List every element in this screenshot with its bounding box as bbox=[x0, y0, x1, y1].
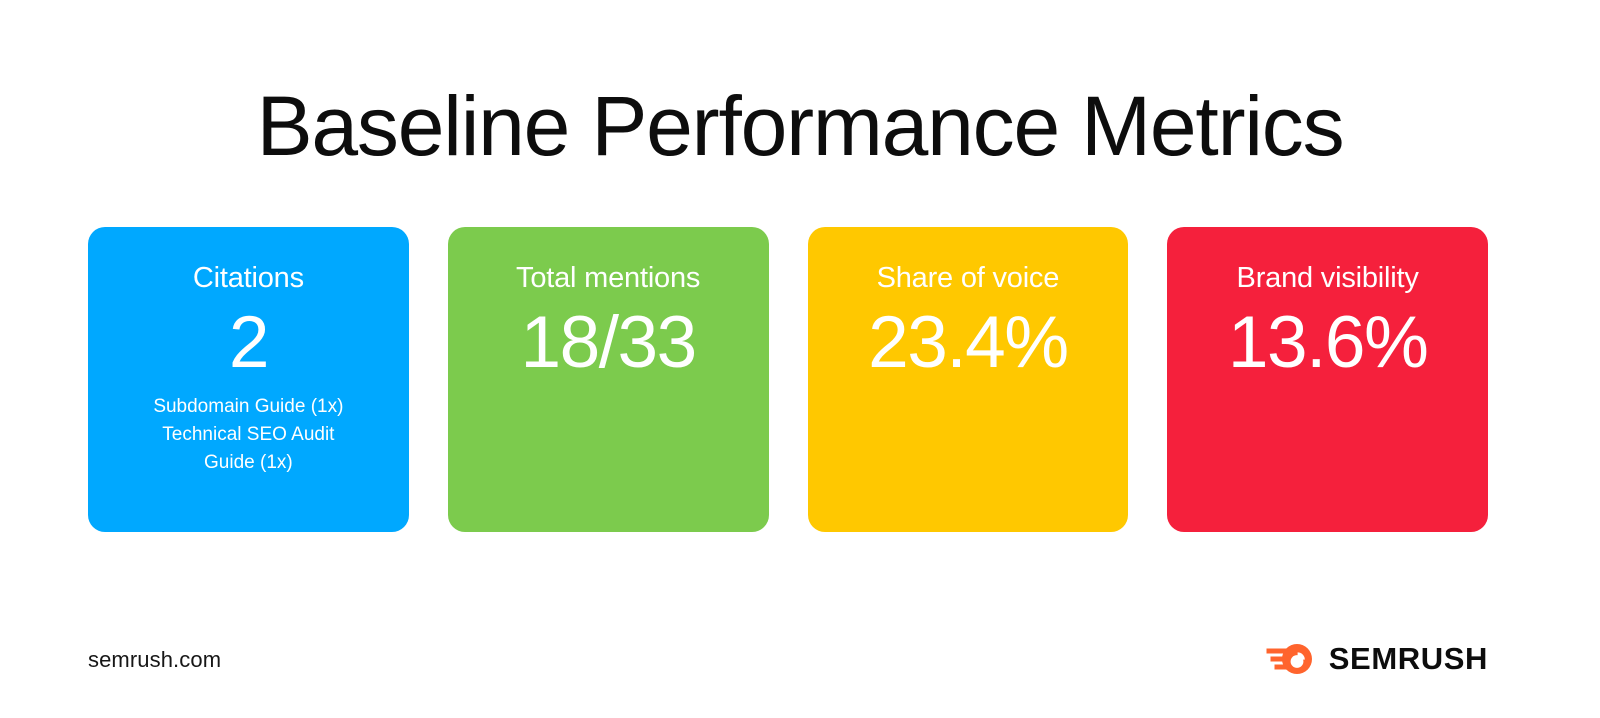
semrush-logo: SEMRUSH bbox=[1265, 640, 1488, 678]
metric-card-label: Share of voice bbox=[877, 261, 1060, 295]
footer-source-url: semrush.com bbox=[88, 645, 221, 675]
metric-card-label: Citations bbox=[193, 261, 304, 295]
infographic-canvas: Baseline Performance Metrics Citations 2… bbox=[0, 0, 1600, 718]
metric-card-value: 13.6% bbox=[1228, 301, 1428, 385]
semrush-wordmark: SEMRUSH bbox=[1329, 642, 1488, 676]
metric-card-row: Citations 2 Subdomain Guide (1x) Technic… bbox=[88, 227, 1488, 532]
metric-card-value: 2 bbox=[229, 301, 268, 385]
metric-card-total-mentions: Total mentions 18/33 bbox=[448, 227, 769, 532]
metric-card-value: 23.4% bbox=[868, 301, 1068, 385]
metric-card-label: Brand visibility bbox=[1237, 261, 1419, 295]
page-title: Baseline Performance Metrics bbox=[0, 78, 1600, 174]
metric-card-label: Total mentions bbox=[516, 261, 700, 295]
metric-card-brand-visibility: Brand visibility 13.6% bbox=[1167, 227, 1488, 532]
semrush-comet-icon bbox=[1265, 640, 1317, 678]
metric-card-value: 18/33 bbox=[521, 301, 696, 385]
metric-card-note: Subdomain Guide (1x) Technical SEO Audit… bbox=[141, 393, 356, 477]
metric-card-citations: Citations 2 Subdomain Guide (1x) Technic… bbox=[88, 227, 409, 532]
metric-card-share-of-voice: Share of voice 23.4% bbox=[808, 227, 1129, 532]
